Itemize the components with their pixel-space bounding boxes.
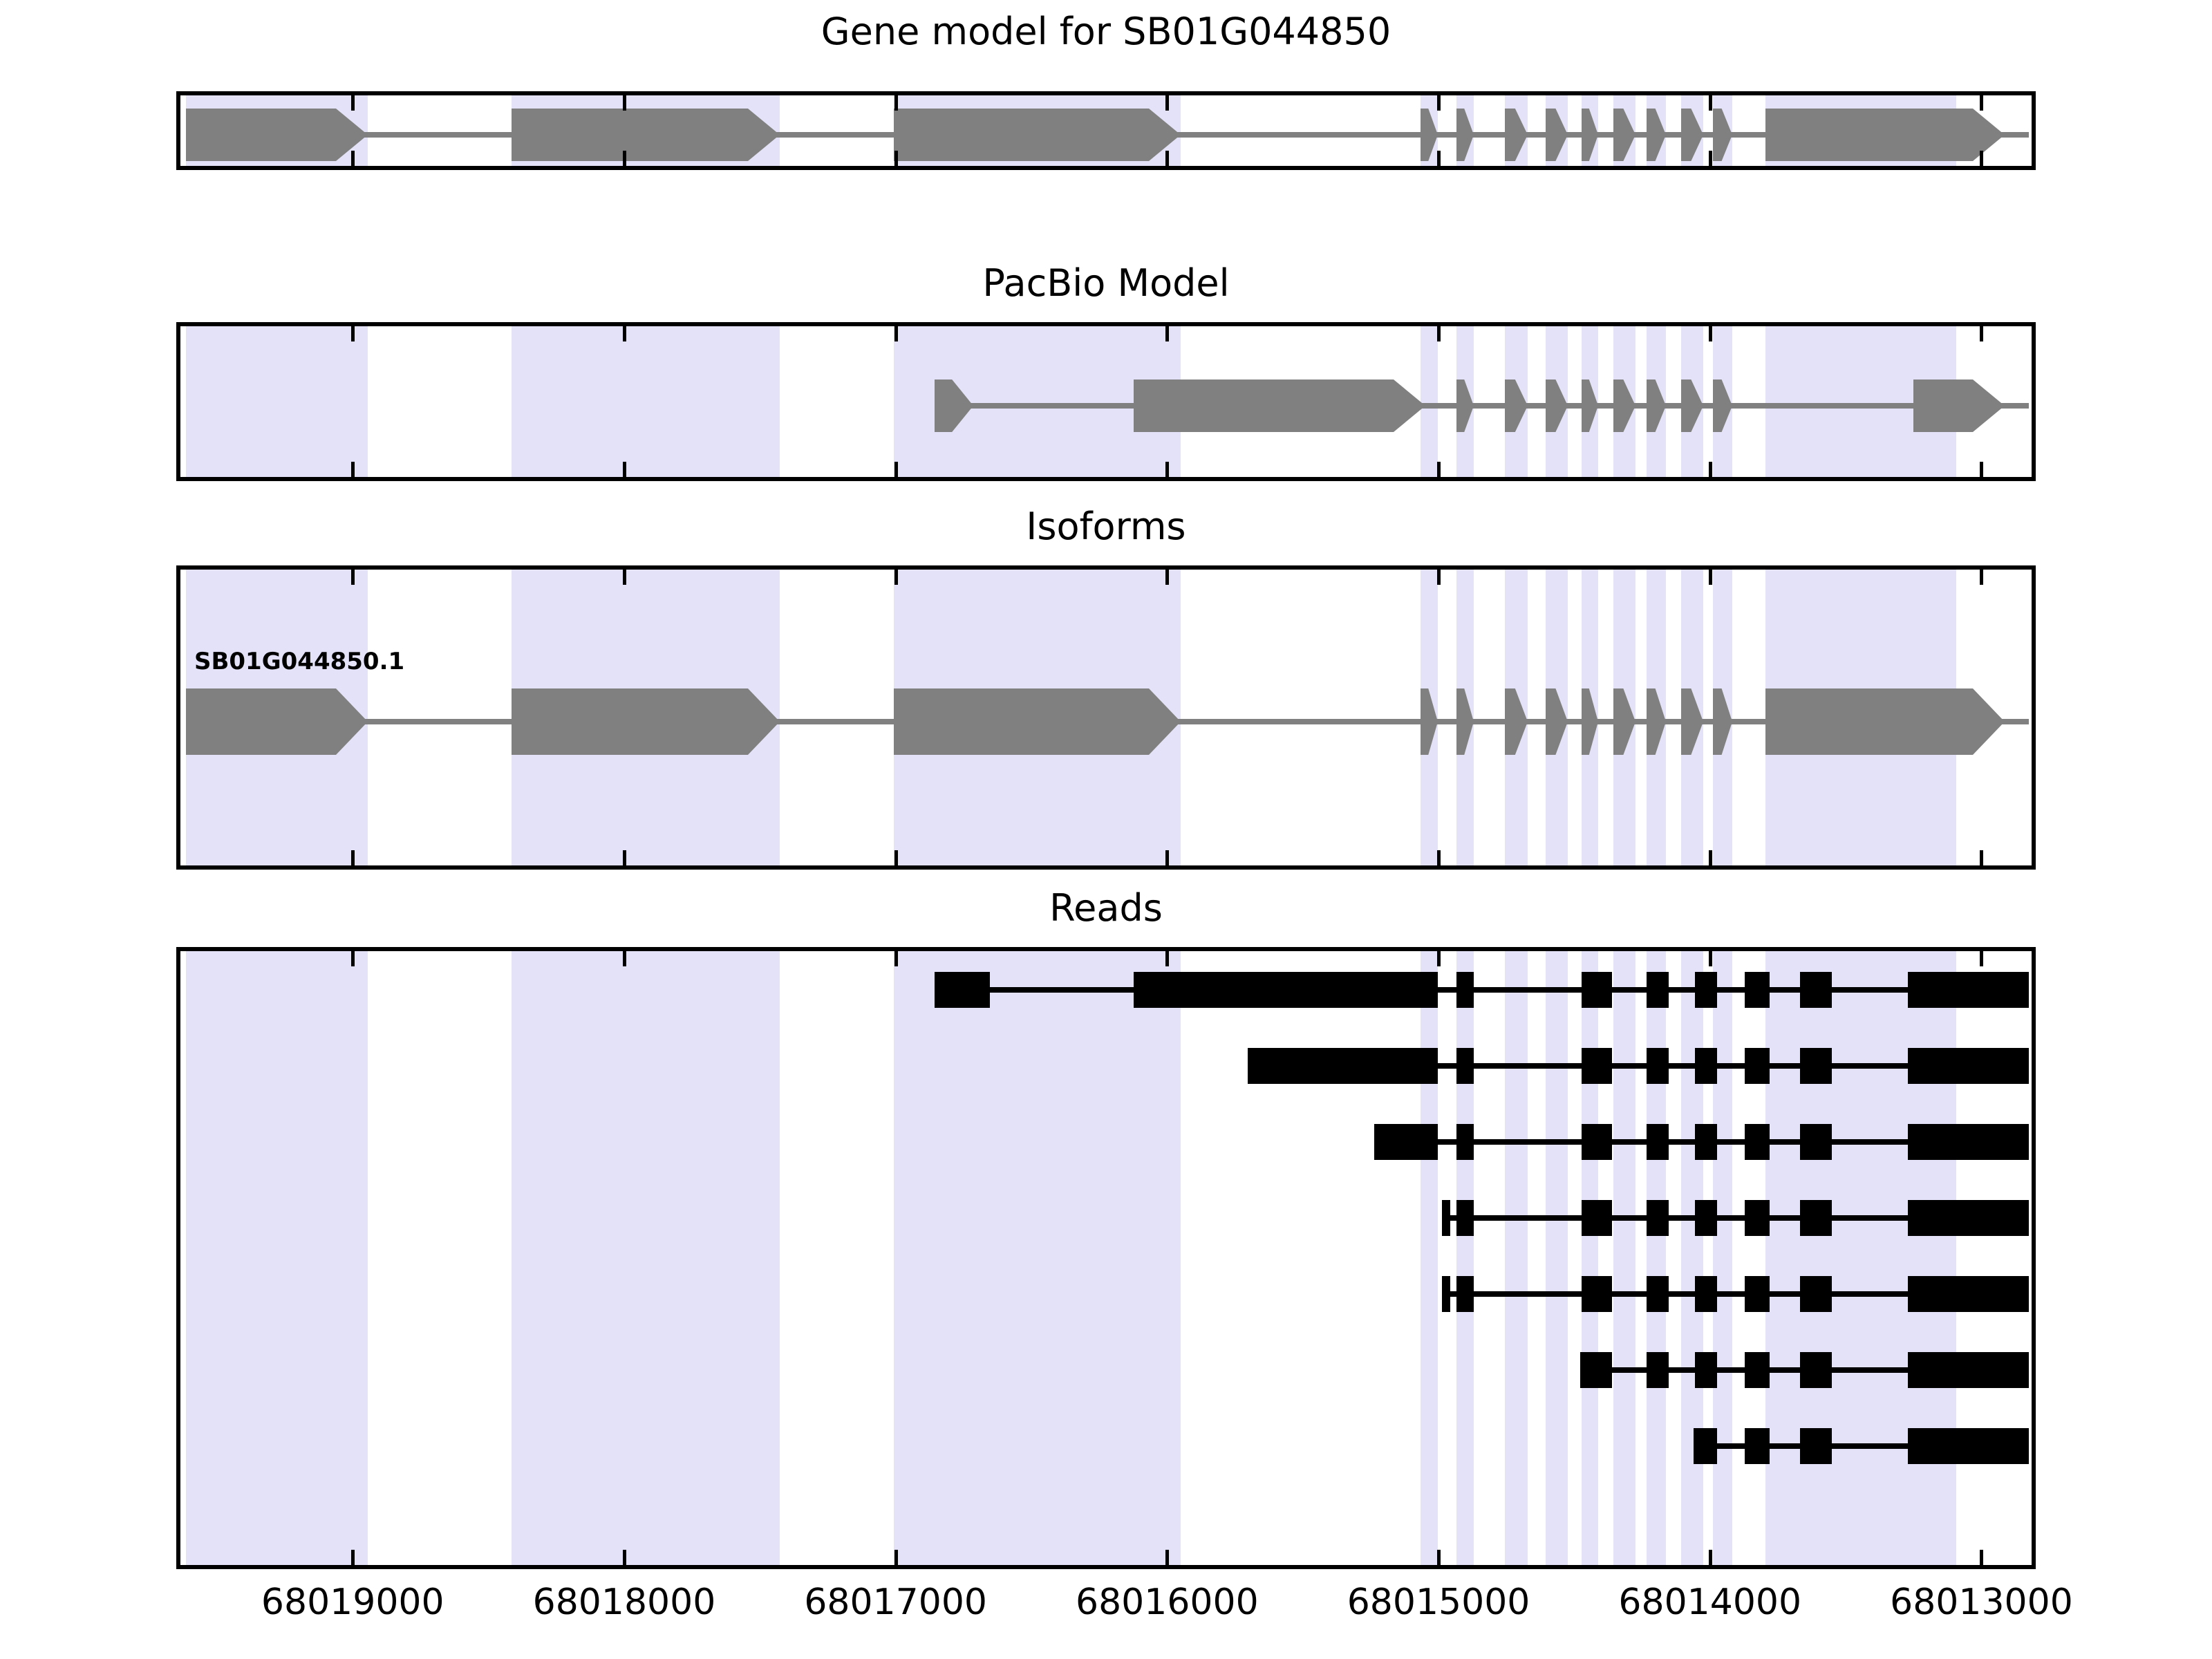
read-exon-block[interactable] — [1442, 1200, 1450, 1236]
x-tick-label: 68016000 — [1076, 1582, 1259, 1623]
intron-line — [935, 403, 2029, 409]
x-tick-mark — [623, 951, 626, 966]
read-exon-block[interactable] — [1695, 1048, 1717, 1084]
read-exon-block[interactable] — [935, 972, 990, 1008]
x-tick-label: 68013000 — [1890, 1582, 2073, 1623]
read-exon-block[interactable] — [1582, 1200, 1612, 1236]
read-exon-block[interactable] — [1908, 1124, 2029, 1160]
exon-highlight-band — [1456, 951, 1474, 1565]
read-exon-block[interactable] — [1800, 1200, 1832, 1236]
read-exon-block[interactable] — [1745, 1048, 1770, 1084]
exon-block[interactable] — [1546, 109, 1568, 161]
x-tick-label: 68015000 — [1347, 1582, 1530, 1623]
pacbio-transcript[interactable] — [180, 326, 2032, 481]
x-tick-label: 68018000 — [533, 1582, 716, 1623]
exon-block[interactable] — [1134, 379, 1425, 432]
exon-highlight-band — [1505, 951, 1528, 1565]
exon-highlight-band — [1681, 951, 1703, 1565]
x-tick-mark — [1709, 1550, 1712, 1565]
x-tick-mark — [1437, 151, 1441, 166]
x-tick-mark — [623, 850, 626, 865]
x-tick-mark — [1165, 95, 1169, 111]
exon-block[interactable] — [512, 109, 780, 161]
x-tick-mark — [894, 951, 898, 966]
exon-block[interactable] — [1713, 109, 1732, 161]
x-tick-mark — [623, 570, 626, 585]
x-tick-mark — [623, 326, 626, 341]
read-exon-block[interactable] — [1745, 1428, 1770, 1464]
exon-block[interactable] — [1546, 688, 1568, 755]
exon-block[interactable] — [1456, 379, 1474, 432]
x-tick-label: 68019000 — [261, 1582, 444, 1623]
gene-model-panel[interactable] — [176, 91, 2036, 170]
x-tick-mark — [351, 850, 355, 865]
exon-highlight-band — [1582, 951, 1598, 1565]
isoforms-title: Isoforms — [0, 505, 2212, 548]
read-row[interactable] — [180, 972, 2032, 1008]
read-row[interactable] — [180, 1048, 2032, 1084]
pacbio-model-panel[interactable] — [176, 322, 2036, 481]
exon-block[interactable] — [1582, 688, 1598, 755]
read-row[interactable] — [180, 1276, 2032, 1312]
exon-block[interactable] — [1647, 109, 1666, 161]
exon-block[interactable] — [1765, 688, 2005, 755]
exon-block[interactable] — [1647, 379, 1666, 432]
x-tick-mark — [1437, 462, 1441, 477]
x-tick-mark — [894, 570, 898, 585]
exon-block[interactable] — [1647, 688, 1666, 755]
exon-highlight-band — [1421, 951, 1438, 1565]
exon-block[interactable] — [512, 688, 780, 755]
read-exon-block[interactable] — [1745, 1276, 1770, 1312]
x-tick-mark — [351, 326, 355, 341]
read-exon-block[interactable] — [1800, 1428, 1832, 1464]
read-exon-block[interactable] — [1745, 1124, 1770, 1160]
read-exon-block[interactable] — [1456, 1048, 1474, 1084]
exon-block[interactable] — [1505, 109, 1528, 161]
read-row[interactable] — [180, 1352, 2032, 1388]
x-tick-mark — [894, 326, 898, 341]
x-tick-mark — [1980, 151, 1983, 166]
x-tick-mark — [1709, 951, 1712, 966]
x-tick-mark — [1709, 151, 1712, 166]
read-row[interactable] — [180, 1200, 2032, 1236]
x-tick-label: 68017000 — [804, 1582, 987, 1623]
read-exon-block[interactable] — [1647, 1352, 1669, 1388]
x-tick-mark — [1165, 326, 1169, 341]
exon-highlight-band — [186, 951, 368, 1565]
exon-block[interactable] — [1713, 688, 1732, 755]
read-exon-block[interactable] — [1647, 972, 1669, 1008]
read-exon-block[interactable] — [1580, 1352, 1612, 1388]
isoforms-panel[interactable]: SB01G044850.1 — [176, 565, 2036, 870]
read-exon-block[interactable] — [1800, 972, 1832, 1008]
read-exon-block[interactable] — [1908, 1276, 2029, 1312]
read-exon-block[interactable] — [1908, 1352, 2029, 1388]
read-exon-block[interactable] — [1908, 1048, 2029, 1084]
exon-highlight-band — [1647, 951, 1666, 1565]
read-exon-block[interactable] — [1442, 1276, 1450, 1312]
read-exon-block[interactable] — [1695, 972, 1717, 1008]
exon-block[interactable] — [1681, 688, 1703, 755]
x-tick-mark — [1165, 951, 1169, 966]
exon-block[interactable] — [1913, 379, 2005, 432]
read-exon-block[interactable] — [1800, 1352, 1832, 1388]
x-tick-mark — [623, 151, 626, 166]
exon-highlight-band — [1613, 951, 1635, 1565]
exon-block[interactable] — [1613, 109, 1635, 161]
x-tick-mark — [1980, 850, 1983, 865]
x-tick-mark — [1709, 326, 1712, 341]
x-tick-mark — [351, 462, 355, 477]
x-tick-mark — [351, 951, 355, 966]
read-exon-block[interactable] — [1695, 1352, 1717, 1388]
x-tick-mark — [1709, 850, 1712, 865]
exon-block[interactable] — [1505, 688, 1528, 755]
exon-block[interactable] — [1613, 688, 1635, 755]
x-tick-mark — [1709, 462, 1712, 477]
x-tick-mark — [894, 850, 898, 865]
read-exon-block[interactable] — [1694, 1428, 1717, 1464]
x-tick-mark — [1165, 1550, 1169, 1565]
exon-block[interactable] — [935, 379, 973, 432]
x-tick-mark — [351, 151, 355, 166]
x-tick-mark — [1980, 1550, 1983, 1565]
exon-highlight-band — [512, 951, 780, 1565]
read-exon-block[interactable] — [1374, 1124, 1438, 1160]
read-exon-block[interactable] — [1582, 1048, 1612, 1084]
read-exon-block[interactable] — [1695, 1124, 1717, 1160]
x-tick-mark — [1165, 850, 1169, 865]
exon-block[interactable] — [1681, 379, 1703, 432]
read-exon-block[interactable] — [1456, 1124, 1474, 1160]
x-tick-mark — [351, 95, 355, 111]
read-exon-block[interactable] — [1248, 1048, 1438, 1084]
read-exon-block[interactable] — [1745, 1200, 1770, 1236]
exon-block[interactable] — [1582, 109, 1598, 161]
x-tick-label: 68014000 — [1618, 1582, 1801, 1623]
x-tick-mark — [1980, 462, 1983, 477]
exon-block[interactable] — [1421, 688, 1438, 755]
gene-model-title: Gene model for SB01G044850 — [0, 10, 2212, 53]
exon-block[interactable] — [186, 109, 368, 161]
genome-browser-figure: Gene model for SB01G044850 PacBio Model … — [0, 0, 2212, 1659]
read-exon-block[interactable] — [1647, 1124, 1669, 1160]
x-tick-mark — [1437, 95, 1441, 111]
read-exon-block[interactable] — [1908, 1428, 2029, 1464]
exon-block[interactable] — [1582, 379, 1598, 432]
read-exon-block[interactable] — [1582, 1276, 1612, 1312]
x-tick-mark — [1980, 570, 1983, 585]
x-tick-mark — [623, 95, 626, 111]
x-tick-mark — [623, 462, 626, 477]
exon-highlight-band — [894, 951, 1181, 1565]
exon-block[interactable] — [186, 688, 368, 755]
reads-panel[interactable] — [176, 947, 2036, 1569]
x-tick-mark — [1165, 570, 1169, 585]
read-exon-block[interactable] — [1582, 972, 1612, 1008]
x-tick-mark — [1437, 570, 1441, 585]
read-row[interactable] — [180, 1124, 2032, 1160]
x-tick-mark — [1437, 951, 1441, 966]
x-tick-mark — [351, 570, 355, 585]
exon-block[interactable] — [1456, 688, 1474, 755]
exon-highlight-band — [1765, 951, 1956, 1565]
x-tick-mark — [1980, 951, 1983, 966]
read-exon-block[interactable] — [1908, 1200, 2029, 1236]
read-exon-block[interactable] — [1745, 972, 1770, 1008]
read-exon-block[interactable] — [1695, 1276, 1717, 1312]
x-tick-mark — [1165, 151, 1169, 166]
x-tick-mark — [1165, 462, 1169, 477]
x-tick-mark — [1980, 95, 1983, 111]
x-tick-mark — [1437, 326, 1441, 341]
exon-block[interactable] — [1713, 379, 1732, 432]
exon-block[interactable] — [894, 109, 1181, 161]
x-tick-mark — [894, 1550, 898, 1565]
read-exon-block[interactable] — [1456, 972, 1474, 1008]
gene-model-transcript[interactable] — [180, 95, 2032, 170]
exon-block[interactable] — [1681, 109, 1703, 161]
exon-block[interactable] — [1613, 379, 1635, 432]
exon-block[interactable] — [1456, 109, 1474, 161]
read-exon-block[interactable] — [1908, 972, 2029, 1008]
read-exon-block[interactable] — [1456, 1200, 1474, 1236]
read-row[interactable] — [180, 1428, 2032, 1464]
exon-highlight-band — [1713, 951, 1732, 1565]
read-exon-block[interactable] — [1647, 1048, 1669, 1084]
read-exon-block[interactable] — [1800, 1048, 1832, 1084]
x-tick-mark — [894, 95, 898, 111]
read-exon-block[interactable] — [1695, 1200, 1717, 1236]
x-tick-mark — [351, 1550, 355, 1565]
x-tick-mark — [1437, 850, 1441, 865]
read-exon-block[interactable] — [1800, 1276, 1832, 1312]
read-intron-line — [935, 987, 2029, 993]
x-tick-mark — [1980, 326, 1983, 341]
read-exon-block[interactable] — [1134, 972, 1438, 1008]
x-tick-mark — [1709, 95, 1712, 111]
exon-highlight-band — [1546, 951, 1568, 1565]
read-exon-block[interactable] — [1647, 1276, 1669, 1312]
exon-block[interactable] — [894, 688, 1181, 755]
x-tick-mark — [623, 1550, 626, 1565]
pacbio-model-title: PacBio Model — [0, 261, 2212, 305]
isoform-transcript[interactable] — [180, 642, 2032, 801]
exon-block[interactable] — [1546, 379, 1568, 432]
read-exon-block[interactable] — [1745, 1352, 1770, 1388]
read-exon-block[interactable] — [1456, 1276, 1474, 1312]
exon-block[interactable] — [1421, 109, 1438, 161]
exon-block[interactable] — [1505, 379, 1528, 432]
x-tick-mark — [1437, 1550, 1441, 1565]
reads-title: Reads — [0, 886, 2212, 930]
read-exon-block[interactable] — [1647, 1200, 1669, 1236]
read-exon-block[interactable] — [1800, 1124, 1832, 1160]
x-tick-mark — [894, 151, 898, 166]
exon-block[interactable] — [1765, 109, 2005, 161]
read-exon-block[interactable] — [1582, 1124, 1612, 1160]
x-tick-mark — [894, 462, 898, 477]
x-tick-mark — [1709, 570, 1712, 585]
